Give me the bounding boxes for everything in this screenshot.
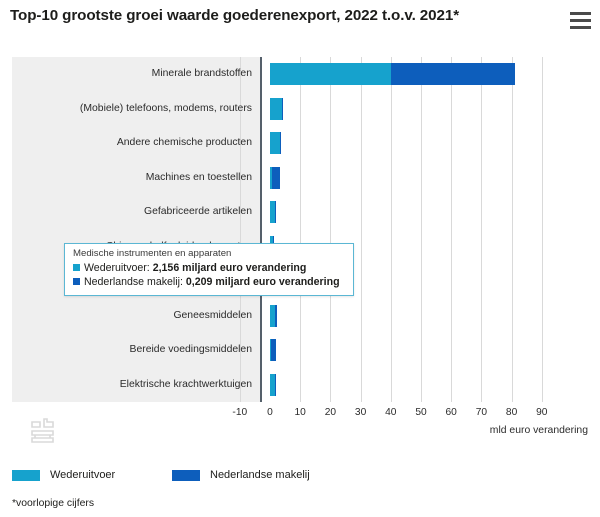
stacked-bar[interactable] bbox=[12, 132, 588, 154]
legend-label: Nederlandse makelij bbox=[210, 469, 310, 481]
bar-row[interactable]: Andere chemische producten bbox=[12, 126, 588, 161]
chart-header: Top-10 grootste groei waarde goederenexp… bbox=[0, 0, 600, 52]
menu-bar-1 bbox=[570, 12, 591, 15]
stacked-bar[interactable] bbox=[12, 98, 588, 120]
bar-segment-nederlandse-makelij[interactable] bbox=[271, 339, 276, 361]
hamburger-menu-icon[interactable] bbox=[570, 12, 591, 29]
tooltip-value-wederuitvoer: 2,156 miljard euro verandering bbox=[153, 262, 307, 274]
bar-rows: Minerale brandstoffen(Mobiele) telefoons… bbox=[12, 57, 588, 402]
plot-area: Minerale brandstoffen(Mobiele) telefoons… bbox=[12, 57, 588, 402]
bar-row[interactable]: Machines en toestellen bbox=[12, 161, 588, 196]
bar-segment-wederuitvoer[interactable] bbox=[270, 63, 391, 85]
menu-bar-3 bbox=[570, 26, 591, 29]
bar-segment-nederlandse-makelij[interactable] bbox=[282, 98, 283, 120]
bar-row[interactable]: Gefabriceerde artikelen bbox=[12, 195, 588, 230]
tooltip-category: Medische instrumenten en apparaten bbox=[73, 249, 345, 260]
bar-segment-nederlandse-makelij[interactable] bbox=[275, 305, 276, 327]
bar-segment-nederlandse-makelij[interactable] bbox=[391, 63, 515, 85]
bar-segment-wederuitvoer[interactable] bbox=[270, 132, 280, 154]
tooltip: Medische instrumenten en apparaten Weder… bbox=[64, 243, 354, 296]
legend-item-nederlandse-makelij[interactable]: Nederlandse makelij bbox=[172, 468, 310, 482]
bar-segment-nederlandse-makelij[interactable] bbox=[272, 167, 281, 189]
tooltip-value-nederlandse-makelij: 0,209 miljard euro verandering bbox=[186, 276, 340, 288]
bar-row[interactable]: (Mobiele) telefoons, modems, routers bbox=[12, 92, 588, 127]
tooltip-key-nederlandse-makelij: Nederlandse makelij: bbox=[84, 276, 186, 288]
tooltip-swatch-nederlandse-makelij bbox=[73, 278, 80, 285]
page-title: Top-10 grootste groei waarde goederenexp… bbox=[10, 6, 515, 26]
bar-row[interactable]: Minerale brandstoffen bbox=[12, 57, 588, 92]
bar-segment-nederlandse-makelij[interactable] bbox=[275, 201, 276, 223]
footnote: *voorlopige cijfers bbox=[12, 498, 94, 509]
x-tick-label: 90 bbox=[522, 407, 562, 418]
stacked-bar[interactable] bbox=[12, 63, 588, 85]
stacked-bar[interactable] bbox=[12, 374, 588, 396]
menu-bar-2 bbox=[570, 19, 591, 22]
legend-item-wederuitvoer[interactable]: Wederuitvoer bbox=[12, 468, 115, 482]
bar-row[interactable]: Geneesmiddelen bbox=[12, 299, 588, 334]
tooltip-row-nederlandse-makelij: Nederlandse makelij: 0,209 miljard euro … bbox=[73, 276, 345, 290]
legend-label: Wederuitvoer bbox=[50, 469, 115, 481]
tooltip-row-wederuitvoer: Wederuitvoer: 2,156 miljard euro verande… bbox=[73, 262, 345, 276]
cbs-logo bbox=[29, 417, 59, 449]
bar-segment-wederuitvoer[interactable] bbox=[270, 98, 282, 120]
legend-swatch bbox=[12, 470, 40, 481]
stacked-bar[interactable] bbox=[12, 305, 588, 327]
stacked-bar[interactable] bbox=[12, 339, 588, 361]
bar-segment-nederlandse-makelij[interactable] bbox=[275, 374, 276, 396]
stacked-bar[interactable] bbox=[12, 201, 588, 223]
tooltip-key-wederuitvoer: Wederuitvoer: bbox=[84, 262, 153, 274]
x-axis-label: mld euro verandering bbox=[490, 425, 588, 436]
stacked-bar[interactable] bbox=[12, 167, 588, 189]
bar-segment-nederlandse-makelij[interactable] bbox=[280, 132, 282, 154]
bar-row[interactable]: Bereide voedingsmiddelen bbox=[12, 333, 588, 368]
chart-card: Top-10 grootste groei waarde goederenexp… bbox=[0, 0, 600, 517]
legend-swatch bbox=[172, 470, 200, 481]
tooltip-swatch-wederuitvoer bbox=[73, 264, 80, 271]
bar-row[interactable]: Elektrische krachtwerktuigen bbox=[12, 368, 588, 403]
